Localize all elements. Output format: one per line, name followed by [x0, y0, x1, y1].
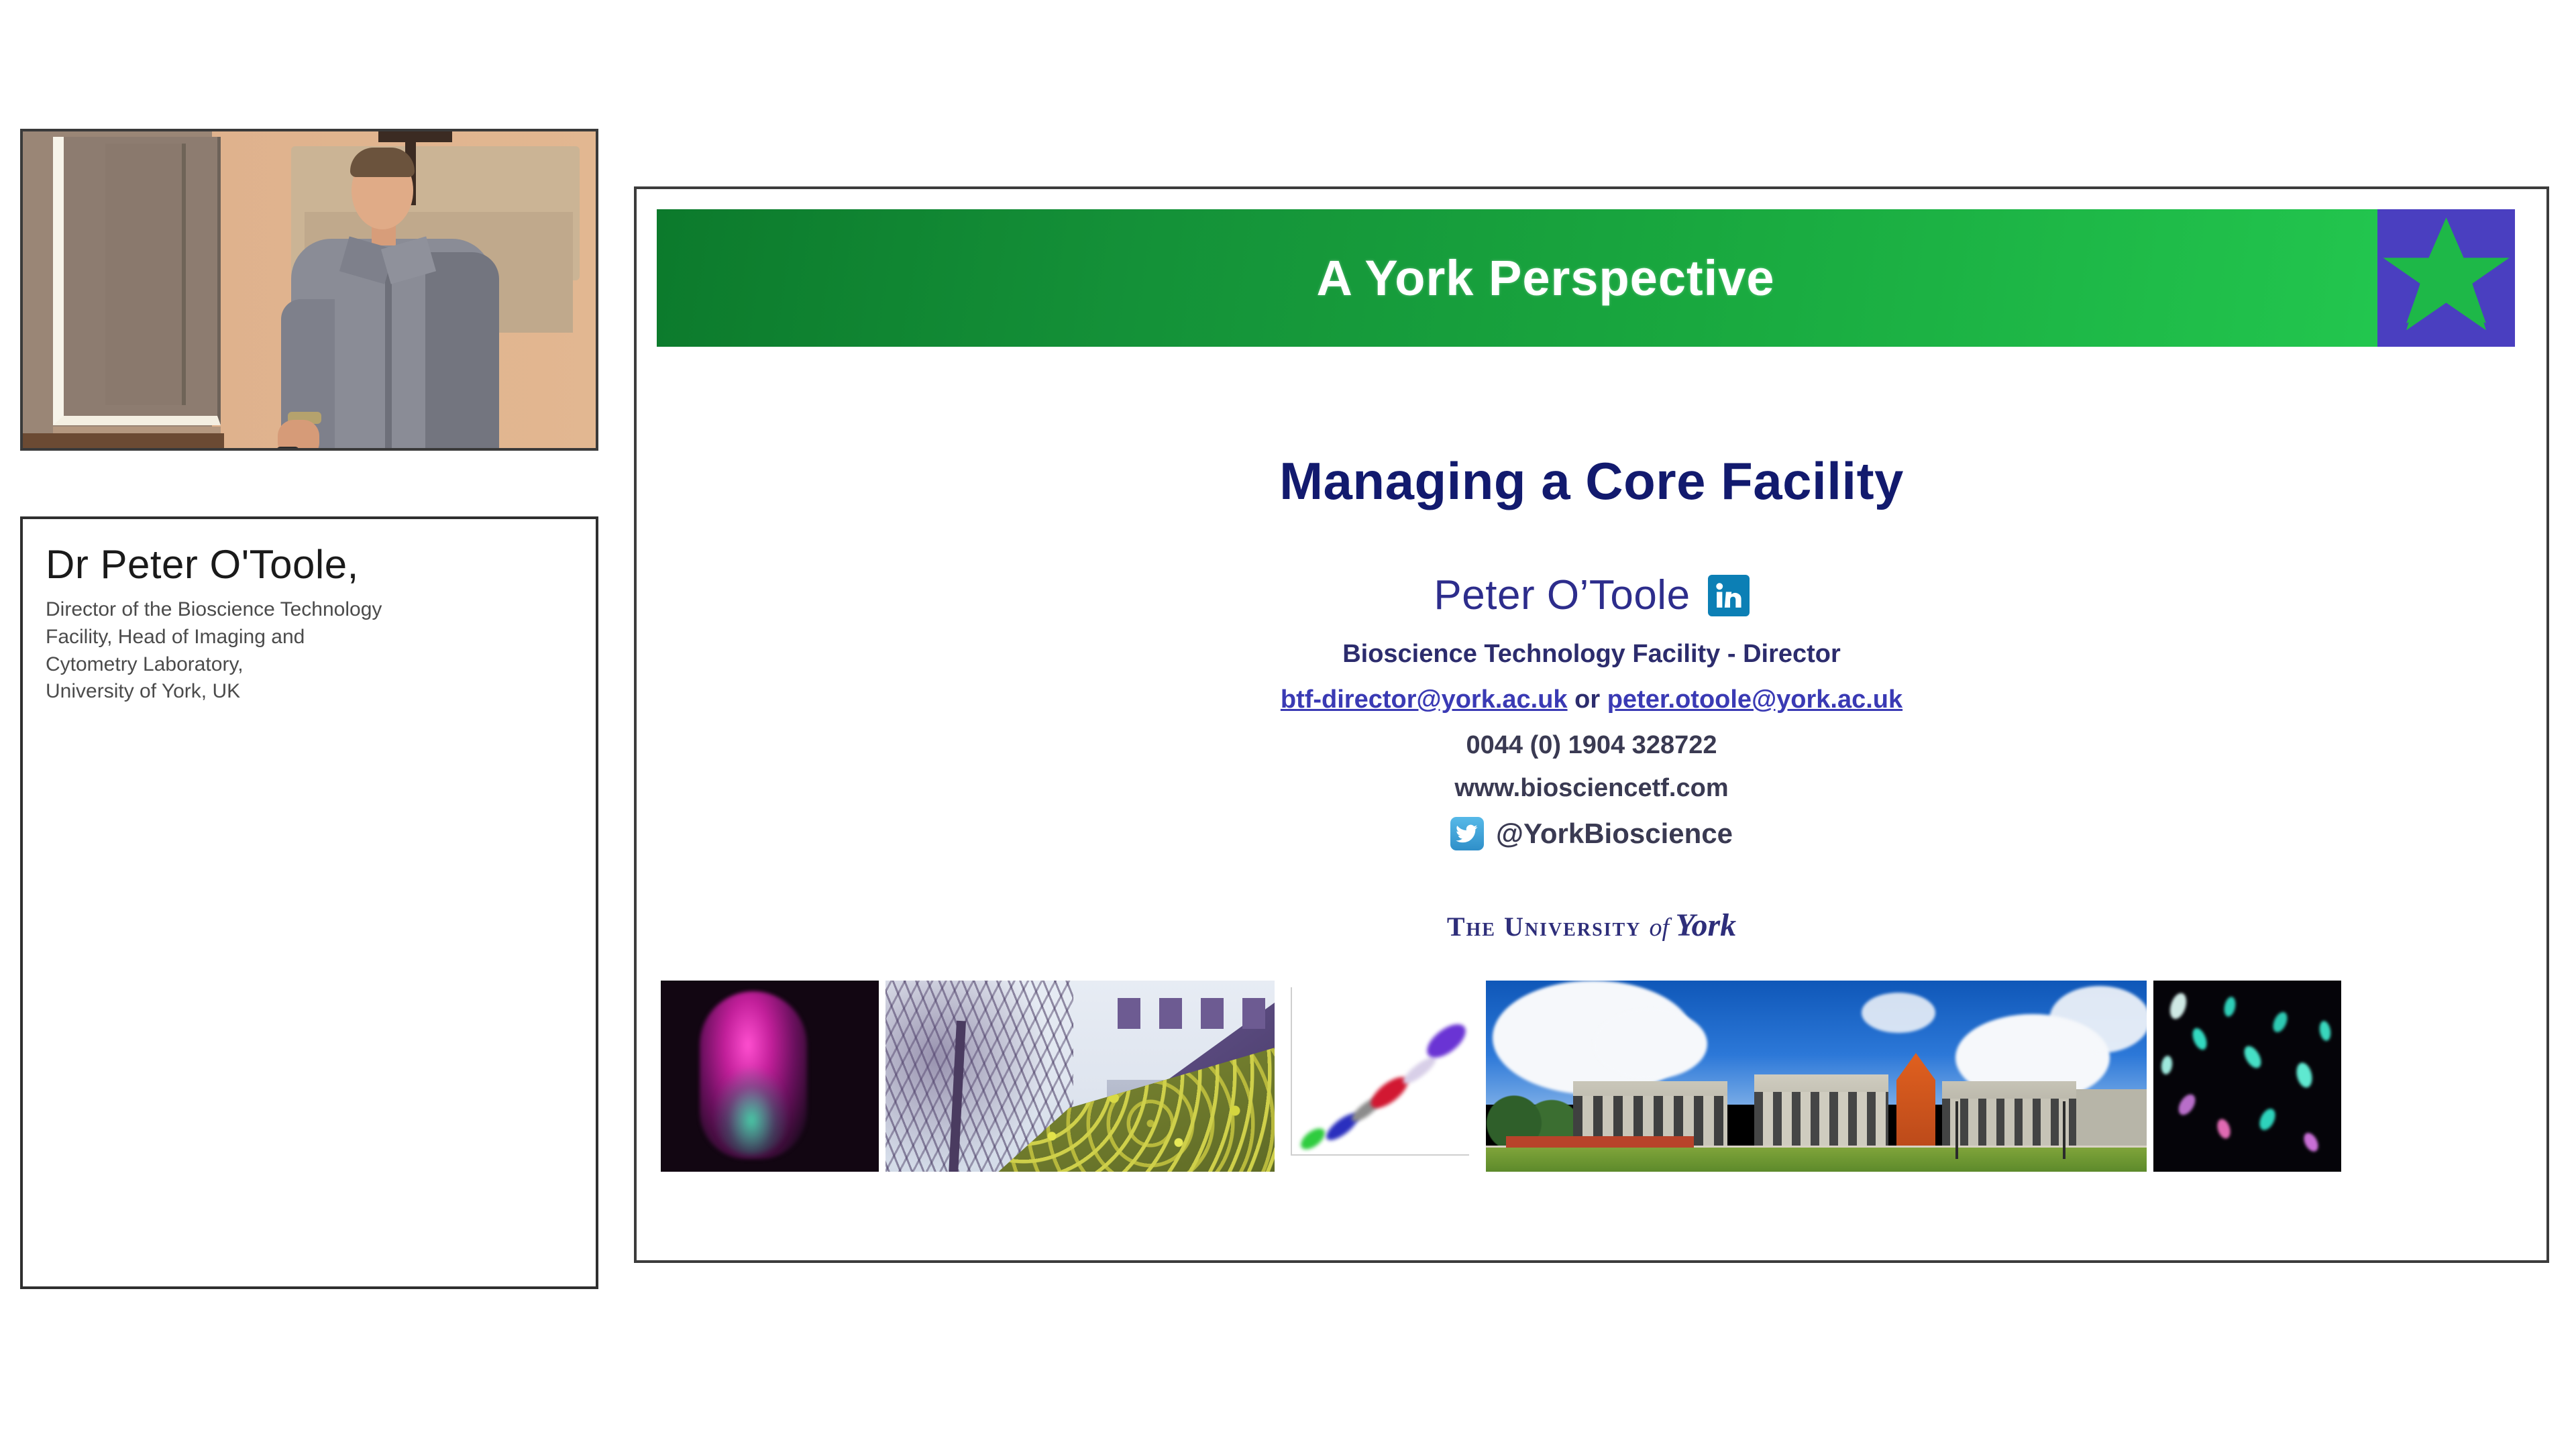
email-primary-link[interactable]: btf-director@york.ac.uk	[1281, 685, 1568, 714]
bio-role-line: Cytometry Laboratory,	[46, 651, 573, 679]
email-secondary-link[interactable]: peter.otoole@york.ac.uk	[1607, 685, 1902, 714]
slide-twitter-row: @YorkBioscience	[637, 817, 2546, 850]
york-city-walls-daffodils-photo	[885, 981, 1275, 1172]
webcam-window	[53, 137, 221, 425]
slide-header-title: A York Perspective	[1317, 250, 1775, 307]
fluorescent-cells-image	[2153, 981, 2341, 1172]
slide-presenter-row: Peter O’Toole	[637, 571, 2546, 619]
presenter-clicker	[276, 447, 299, 451]
york-star-logo-icon	[2377, 209, 2515, 347]
webcam-floor	[23, 433, 224, 448]
wordmark-the-university: The University	[1447, 911, 1650, 942]
campus-photo-cloud	[1862, 993, 1935, 1033]
fluorescence-microscopy-image	[661, 981, 879, 1172]
bio-role-line: Facility, Head of Imaging and	[46, 624, 573, 651]
presenter-torso-shadow	[425, 252, 499, 451]
walls-photo-battlements	[1118, 998, 1272, 1029]
slide-main-title: Managing a Core Facility	[637, 451, 2546, 512]
twitter-icon[interactable]	[1450, 817, 1484, 850]
slide-photo-strip	[661, 981, 2515, 1172]
slide-header-banner: A York Perspective	[657, 209, 2515, 347]
scatter-plot-x-axis	[1291, 1154, 1469, 1156]
slide-email-line: btf-director@york.ac.uk or peter.otoole@…	[637, 685, 2546, 714]
linkedin-icon[interactable]	[1708, 575, 1750, 616]
campus-photo-lamp-post	[1955, 1101, 1958, 1159]
slide-affiliation: Bioscience Technology Facility - Directo…	[637, 640, 2546, 669]
fluorescence-green-structure	[714, 1068, 788, 1155]
webcam-window-pane	[105, 144, 186, 405]
presentation-slide[interactable]: A York Perspective Managing a Core Facil…	[634, 186, 2549, 1263]
email-conjunction: or	[1568, 685, 1607, 714]
scatter-plot-y-axis	[1291, 987, 1292, 1155]
flow-cytometry-scatter-plot	[1281, 981, 1479, 1172]
wordmark-of: of	[1649, 913, 1675, 942]
slide-twitter-handle: @YorkBioscience	[1496, 818, 1733, 850]
slide-presenter-name: Peter O’Toole	[1434, 571, 1690, 619]
presenter-video-feed[interactable]: Presenter speaking in front of a stone p…	[20, 129, 598, 451]
slide-phone-number: 0044 (0) 1904 328722	[637, 731, 2546, 760]
presenter-bio-panel: Dr Peter O'Toole, Director of the Biosci…	[20, 516, 598, 1289]
presenter-shirt-placket	[385, 259, 392, 451]
bio-role-line: Director of the Bioscience Technology	[46, 596, 573, 624]
presenter-bio-role: Director of the Bioscience Technology Fa…	[46, 596, 573, 706]
presenter-bio-name: Dr Peter O'Toole,	[46, 543, 573, 586]
wordmark-york: York	[1676, 907, 1737, 943]
york-campus-building-photo	[1486, 981, 2147, 1172]
presenter-hair	[350, 148, 415, 177]
slide-website[interactable]: www.biosciencetf.com	[637, 774, 2546, 803]
university-of-york-wordmark: The University of York	[637, 907, 2546, 944]
campus-photo-cloud	[1593, 1009, 1707, 1079]
campus-photo-lamp-post	[2063, 1101, 2065, 1159]
campus-photo-lawn	[1486, 1148, 2147, 1172]
bio-role-line: University of York, UK	[46, 678, 573, 706]
campus-photo-cloud	[2049, 986, 2147, 1053]
